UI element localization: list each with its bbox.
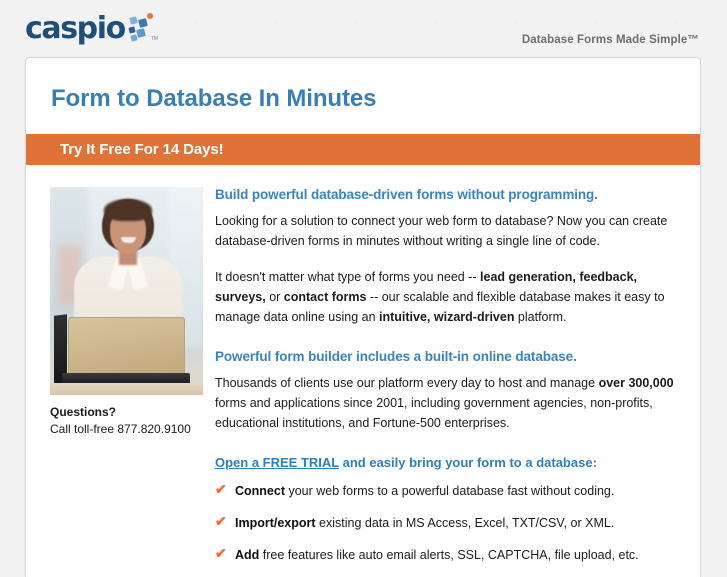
p2-text-2: or	[266, 290, 284, 304]
card-content: Questions? Call toll-free 877.820.9100 B…	[26, 165, 700, 577]
header-tagline: Database Forms Made Simple™	[522, 34, 699, 46]
p2-text-4: platform.	[514, 310, 566, 324]
bullet-text: existing data in MS Access, Excel, TXT/C…	[316, 516, 615, 530]
p3-text-2: forms and applications since 2001, inclu…	[215, 396, 653, 430]
bullet-bold: Connect	[235, 484, 285, 498]
check-icon: ✔	[215, 547, 228, 560]
page-title: Form to Database In Minutes	[26, 58, 700, 113]
promo-banner[interactable]: Try It Free For 14 Days!	[26, 134, 700, 165]
list-item: ✔ Add free features like auto email aler…	[215, 546, 678, 564]
questions-block: Questions? Call toll-free 877.820.9100	[50, 404, 214, 438]
p2-text-1: It doesn't matter what type of forms you…	[215, 270, 480, 284]
paragraph-form-types: It doesn't matter what type of forms you…	[215, 267, 678, 327]
p2-bold-2: contact forms	[284, 290, 367, 304]
p3-bold-1: over 300,000	[599, 376, 674, 390]
page-header: caspio TM Database Forms Made Simple™	[0, 0, 727, 55]
right-column: Build powerful database-driven forms wit…	[214, 187, 700, 577]
paragraph-clients: Thousands of clients use our platform ev…	[215, 373, 678, 433]
bullet-bold: Add	[235, 548, 259, 562]
questions-phone: Call toll-free 877.820.9100	[50, 421, 214, 438]
section-heading-builder: Powerful form builder includes a built-i…	[215, 349, 678, 364]
left-column: Questions? Call toll-free 877.820.9100	[26, 187, 214, 577]
section-heading-build: Build powerful database-driven forms wit…	[215, 187, 678, 202]
main-card: Form to Database In Minutes Try It Free …	[25, 57, 701, 577]
list-item: ✔ Import/export existing data in MS Acce…	[215, 514, 678, 532]
logo-trademark: TM	[151, 36, 158, 42]
caspio-logo[interactable]: caspio TM	[25, 14, 158, 44]
bullet-text: your web forms to a powerful database fa…	[285, 484, 614, 498]
feature-list: ✔ Connect your web forms to a powerful d…	[215, 482, 678, 577]
questions-title: Questions?	[50, 404, 214, 421]
p2-bold-3: intuitive, wizard-driven	[379, 310, 514, 324]
logo-squares-icon	[128, 17, 150, 43]
logo-wordmark: caspio	[25, 14, 125, 44]
bullet-bold: Import/export	[235, 516, 316, 530]
check-icon: ✔	[215, 515, 228, 528]
promo-banner-label: Try It Free For 14 Days!	[26, 141, 224, 158]
bullet-text: free features like auto email alerts, SS…	[259, 548, 638, 562]
check-icon: ✔	[215, 483, 228, 496]
list-item: ✔ Connect your web forms to a powerful d…	[215, 482, 678, 500]
p3-text-1: Thousands of clients use our platform ev…	[215, 376, 599, 390]
paragraph-intro: Looking for a solution to connect your w…	[215, 211, 678, 251]
free-trial-link[interactable]: Open a FREE TRIAL	[215, 455, 339, 470]
woman-with-laptop-photo	[50, 187, 203, 395]
trial-rest-text: and easily bring your form to a database…	[339, 455, 597, 470]
trial-call-to-action: Open a FREE TRIAL and easily bring your …	[215, 455, 678, 470]
